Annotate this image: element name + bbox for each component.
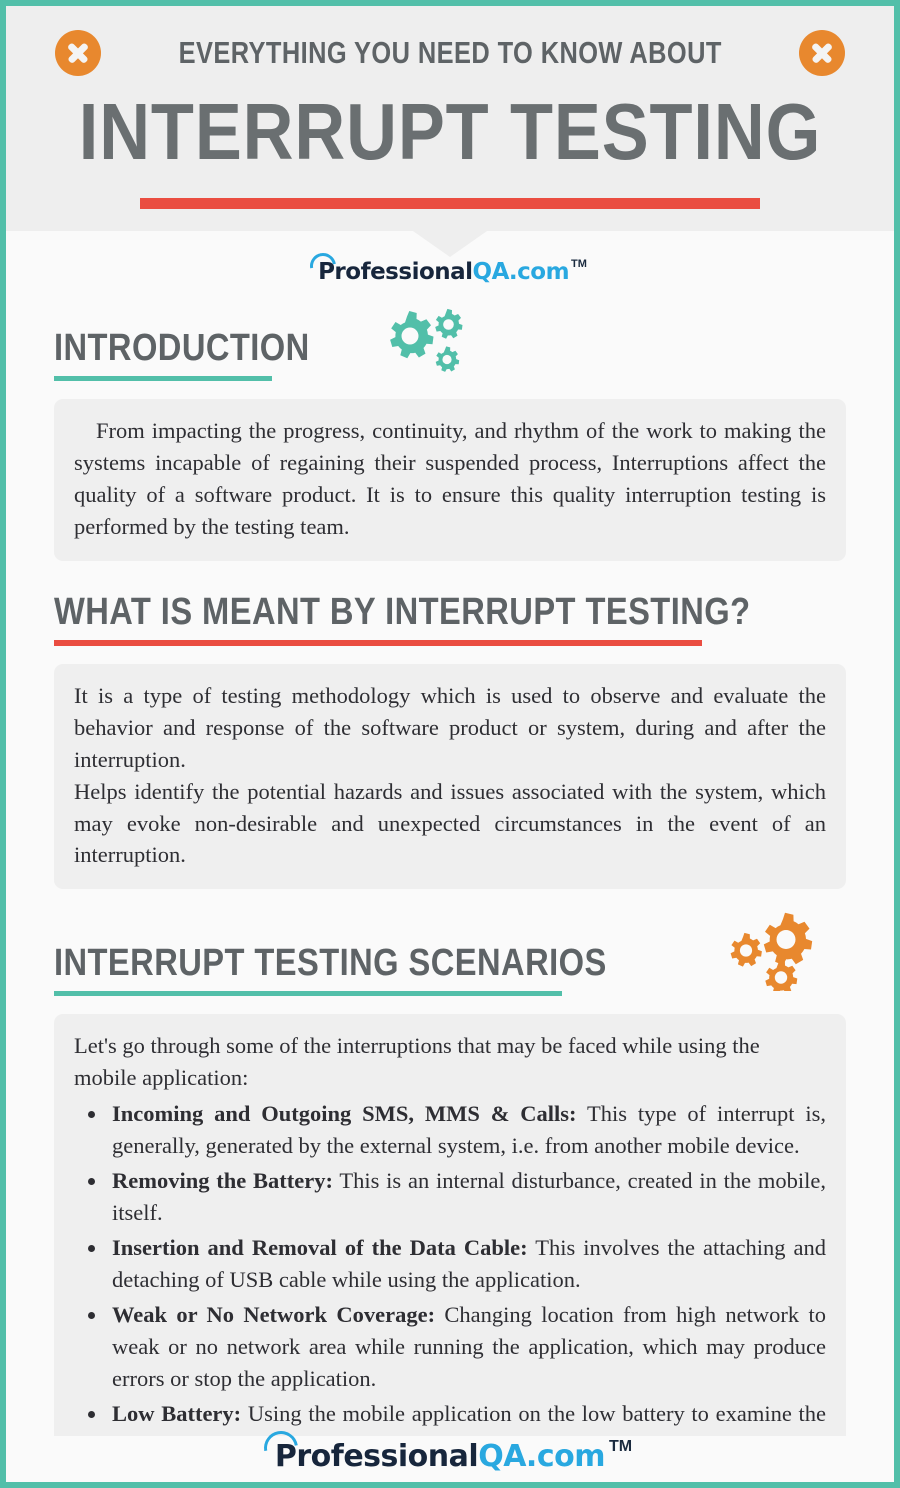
logo-text-professional: Professional	[275, 1442, 478, 1472]
section-body-what-is-meant: It is a type of testing methodology whic…	[54, 664, 846, 890]
section-body-scenarios: Let's go through some of the interruptio…	[54, 1014, 846, 1479]
brand-logo-bottom: ProfessionalQA.com TM	[6, 1442, 894, 1472]
close-x-icon-left	[55, 30, 101, 76]
poster-header: EVERYTHING YOU NEED TO KNOW ABOUT INTERR…	[6, 6, 894, 231]
section-underline-introduction	[54, 376, 272, 381]
logo-lockup: ProfessionalQA.com TM	[268, 1442, 632, 1472]
header-notch	[413, 231, 487, 257]
paragraph: It is a type of testing methodology whic…	[74, 680, 826, 776]
paragraph: Helps identify the potential hazards and…	[74, 776, 826, 872]
section-underline-scenarios	[54, 991, 562, 996]
section-heading-row: INTERRUPT TESTING SCENARIOS	[54, 911, 846, 1000]
header-kicker-row: EVERYTHING YOU NEED TO KNOW ABOUT	[6, 22, 894, 84]
list-item-term: Insertion and Removal of the Data Cable:	[112, 1235, 528, 1260]
section-body-introduction: From impacting the progress, continuity,…	[54, 399, 846, 561]
list-item: Incoming and Outgoing SMS, MMS & Calls: …	[108, 1098, 826, 1162]
section-title-introduction: INTRODUCTION	[54, 327, 310, 370]
list-item-term: Removing the Battery:	[112, 1168, 333, 1193]
logo-text-professional: Professional	[318, 261, 472, 284]
scenarios-intro: Let's go through some of the interruptio…	[74, 1030, 826, 1094]
logo-lockup: ProfessionalQA.com TM	[313, 261, 587, 284]
section-what-is-meant: WHAT IS MEANT BY INTERRUPT TESTING?	[54, 583, 846, 890]
list-item: Removing the Battery: This is an interna…	[108, 1165, 826, 1229]
gears-teal-icon	[377, 306, 465, 381]
list-item: Insertion and Removal of the Data Cable:…	[108, 1232, 826, 1296]
infographic-poster: EVERYTHING YOU NEED TO KNOW ABOUT INTERR…	[0, 0, 900, 1488]
page-title: INTERRUPT TESTING	[59, 94, 840, 170]
list-item-term: Incoming and Outgoing SMS, MMS & Calls:	[112, 1101, 577, 1126]
paragraph: From impacting the progress, continuity,…	[74, 415, 826, 543]
section-introduction: INTRODUCTION	[54, 306, 846, 561]
header-kicker-text: EVERYTHING YOU NEED TO KNOW ABOUT	[178, 35, 721, 71]
section-heading-row: WHAT IS MEANT BY INTERRUPT TESTING?	[54, 583, 846, 650]
logo-text-dotcom: .com	[509, 261, 569, 284]
poster-footer: ProfessionalQA.com TM	[6, 1436, 894, 1482]
list-item: Weak or No Network Coverage: Changing lo…	[108, 1299, 826, 1395]
list-item-term: Low Battery:	[112, 1401, 241, 1426]
logo-text-qa: QA	[473, 261, 509, 284]
section-scenarios: INTERRUPT TESTING SCENARIOS	[54, 911, 846, 1479]
close-x-icon-right	[799, 30, 845, 76]
title-underline	[140, 198, 760, 209]
list-item-term: Weak or No Network Coverage:	[112, 1302, 435, 1327]
scenarios-list: Incoming and Outgoing SMS, MMS & Calls: …	[108, 1098, 826, 1461]
section-title-what-is-meant: WHAT IS MEANT BY INTERRUPT TESTING?	[54, 591, 750, 634]
poster-content: INTRODUCTION	[6, 306, 894, 1480]
logo-text-qa: QA	[478, 1442, 526, 1472]
logo-trademark: TM	[609, 1439, 632, 1455]
section-underline-what-is-meant	[54, 640, 702, 646]
logo-trademark: TM	[571, 259, 587, 270]
gears-orange-icon	[723, 911, 823, 996]
section-heading-row: INTRODUCTION	[54, 306, 846, 385]
logo-text-dotcom: .com	[526, 1442, 605, 1472]
brand-logo-top: ProfessionalQA.com TM	[6, 261, 894, 284]
section-title-scenarios: INTERRUPT TESTING SCENARIOS	[54, 942, 607, 985]
bug-icon	[890, 583, 900, 646]
